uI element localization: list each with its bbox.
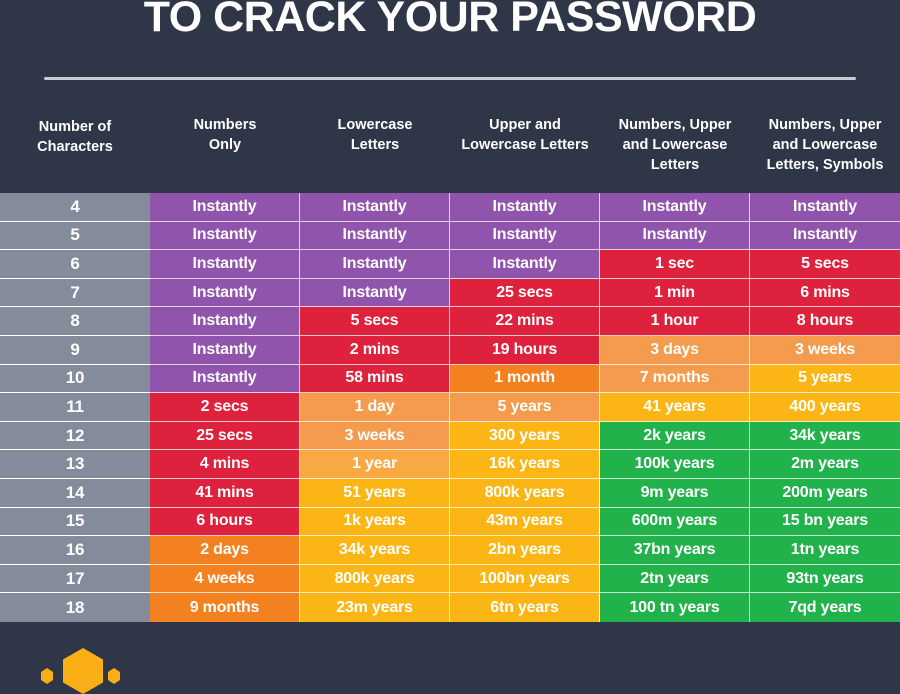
crack-time-cell: 8 hours xyxy=(750,307,900,336)
crack-time-cell: 9 months xyxy=(150,593,300,622)
hive-logo-left-accent-icon xyxy=(41,668,53,684)
table-row: 112 secs1 day5 years41 years400 years xyxy=(0,393,900,422)
table-row: 156 hours1k years43m years600m years15 b… xyxy=(0,508,900,537)
crack-time-cell: 1 min xyxy=(600,279,750,308)
table-row: 134 mins1 year16k years100k years2m year… xyxy=(0,450,900,479)
character-count-cell: 8 xyxy=(0,307,150,336)
crack-time-cell: 19 hours xyxy=(450,336,600,365)
column-header-label: Numbers, Upperand LowercaseLetters xyxy=(619,115,732,175)
crack-time-cell: Instantly xyxy=(150,307,300,336)
table-column-header-4: Numbers, Upperand LowercaseLetters xyxy=(600,97,750,193)
crack-time-cell: 100bn years xyxy=(450,565,600,594)
table-body: 4InstantlyInstantlyInstantlyInstantlyIns… xyxy=(0,193,900,622)
crack-time-cell: 5 years xyxy=(450,393,600,422)
crack-time-cell: 1 year xyxy=(300,450,450,479)
crack-time-cell: 400 years xyxy=(750,393,900,422)
crack-time-cell: 9m years xyxy=(600,479,750,508)
crack-time-cell: Instantly xyxy=(450,222,600,251)
crack-time-cell: Instantly xyxy=(300,279,450,308)
character-count-cell: 4 xyxy=(0,193,150,222)
crack-time-cell: 1tn years xyxy=(750,536,900,565)
crack-time-cell: 2 secs xyxy=(150,393,300,422)
crack-time-cell: 22 mins xyxy=(450,307,600,336)
character-count-cell: 5 xyxy=(0,222,150,251)
crack-time-cell: 37bn years xyxy=(600,536,750,565)
crack-time-cell: 4 mins xyxy=(150,450,300,479)
table-row: 1225 secs3 weeks300 years2k years34k yea… xyxy=(0,422,900,451)
crack-time-cell: 1k years xyxy=(300,508,450,537)
crack-time-cell: Instantly xyxy=(450,250,600,279)
crack-time-cell: 34k years xyxy=(300,536,450,565)
table-row: 6InstantlyInstantlyInstantly1 sec5 secs xyxy=(0,250,900,279)
title-divider xyxy=(44,77,856,80)
crack-time-cell: 25 secs xyxy=(150,422,300,451)
character-count-cell: 15 xyxy=(0,508,150,537)
crack-time-cell: Instantly xyxy=(150,222,300,251)
character-count-cell: 14 xyxy=(0,479,150,508)
table-row: 5InstantlyInstantlyInstantlyInstantlyIns… xyxy=(0,222,900,251)
crack-time-cell: 200m years xyxy=(750,479,900,508)
column-header-label: Numbers, Upperand LowercaseLetters, Symb… xyxy=(767,115,884,175)
crack-time-cell: 2k years xyxy=(600,422,750,451)
crack-time-cell: Instantly xyxy=(750,222,900,251)
crack-time-cell: 5 years xyxy=(750,365,900,394)
crack-time-cell: 3 weeks xyxy=(750,336,900,365)
table-row: 174 weeks800k years100bn years2tn years9… xyxy=(0,565,900,594)
crack-time-cell: 2m years xyxy=(750,450,900,479)
crack-time-cell: Instantly xyxy=(150,193,300,222)
table-column-header-3: Upper andLowercase Letters xyxy=(450,97,600,193)
crack-time-cell: 7 months xyxy=(600,365,750,394)
table-row: 4InstantlyInstantlyInstantlyInstantlyIns… xyxy=(0,193,900,222)
crack-time-cell: 100k years xyxy=(600,450,750,479)
character-count-cell: 6 xyxy=(0,250,150,279)
crack-time-cell: 5 secs xyxy=(300,307,450,336)
crack-time-cell: Instantly xyxy=(450,193,600,222)
character-count-cell: 16 xyxy=(0,536,150,565)
crack-time-cell: 1 hour xyxy=(600,307,750,336)
crack-time-cell: 6 mins xyxy=(750,279,900,308)
crack-time-cell: 5 secs xyxy=(750,250,900,279)
crack-time-cell: 800k years xyxy=(300,565,450,594)
table-row: 10Instantly58 mins1 month7 months5 years xyxy=(0,365,900,394)
character-count-cell: 18 xyxy=(0,593,150,622)
crack-time-cell: 1 day xyxy=(300,393,450,422)
table-column-header-0: Number ofCharacters xyxy=(0,97,150,193)
table-column-header-1: NumbersOnly xyxy=(150,97,300,193)
crack-time-cell: 6tn years xyxy=(450,593,600,622)
column-header-label: NumbersOnly xyxy=(194,115,257,155)
crack-time-cell: Instantly xyxy=(300,222,450,251)
crack-time-cell: 41 mins xyxy=(150,479,300,508)
crack-time-cell: Instantly xyxy=(150,365,300,394)
table-row: 1441 mins51 years800k years9m years200m … xyxy=(0,479,900,508)
character-count-cell: 9 xyxy=(0,336,150,365)
crack-time-cell: 2tn years xyxy=(600,565,750,594)
crack-time-cell: 23m years xyxy=(300,593,450,622)
crack-time-cell: 3 days xyxy=(600,336,750,365)
crack-time-cell: 2bn years xyxy=(450,536,600,565)
table-row: 8Instantly5 secs22 mins1 hour8 hours xyxy=(0,307,900,336)
table-header-row: Number ofCharactersNumbersOnlyLowercaseL… xyxy=(0,97,900,193)
crack-time-cell: 43m years xyxy=(450,508,600,537)
crack-time-cell: Instantly xyxy=(150,250,300,279)
crack-time-cell: 58 mins xyxy=(300,365,450,394)
password-crack-time-table: Number ofCharactersNumbersOnlyLowercaseL… xyxy=(0,97,900,622)
crack-time-cell: 4 weeks xyxy=(150,565,300,594)
crack-time-cell: 6 hours xyxy=(150,508,300,537)
crack-time-cell: 100 tn years xyxy=(600,593,750,622)
character-count-cell: 7 xyxy=(0,279,150,308)
table-row: 7InstantlyInstantly25 secs1 min6 mins xyxy=(0,279,900,308)
crack-time-cell: 2 days xyxy=(150,536,300,565)
infographic-page: TO CRACK YOUR PASSWORD HIVE SYSTEMS Numb… xyxy=(0,0,900,675)
crack-time-cell: 16k years xyxy=(450,450,600,479)
crack-time-cell: 34k years xyxy=(750,422,900,451)
table-row: 162 days34k years2bn years37bn years1tn … xyxy=(0,536,900,565)
crack-time-cell: Instantly xyxy=(300,250,450,279)
crack-time-cell: 15 bn years xyxy=(750,508,900,537)
hive-logo-right-accent-icon xyxy=(108,668,120,684)
character-count-cell: 10 xyxy=(0,365,150,394)
character-count-cell: 17 xyxy=(0,565,150,594)
crack-time-cell: 25 secs xyxy=(450,279,600,308)
hive-systems-logo-icon xyxy=(63,648,103,694)
crack-time-cell: 2 mins xyxy=(300,336,450,365)
crack-time-cell: 51 years xyxy=(300,479,450,508)
crack-time-cell: 7qd years xyxy=(750,593,900,622)
crack-time-cell: Instantly xyxy=(600,193,750,222)
crack-time-cell: 41 years xyxy=(600,393,750,422)
table-column-header-5: Numbers, Upperand LowercaseLetters, Symb… xyxy=(750,97,900,193)
column-header-label: Upper andLowercase Letters xyxy=(461,115,588,155)
crack-time-cell: Instantly xyxy=(600,222,750,251)
crack-time-cell: Instantly xyxy=(150,336,300,365)
crack-time-cell: 3 weeks xyxy=(300,422,450,451)
character-count-cell: 13 xyxy=(0,450,150,479)
character-count-cell: 12 xyxy=(0,422,150,451)
table-column-header-2: LowercaseLetters xyxy=(300,97,450,193)
table-row: 189 months23m years6tn years100 tn years… xyxy=(0,593,900,622)
table-row: 9Instantly2 mins19 hours3 days3 weeks xyxy=(0,336,900,365)
crack-time-cell: 800k years xyxy=(450,479,600,508)
crack-time-cell: 1 month xyxy=(450,365,600,394)
crack-time-cell: 93tn years xyxy=(750,565,900,594)
column-header-label: LowercaseLetters xyxy=(338,115,413,155)
character-count-cell: 11 xyxy=(0,393,150,422)
column-header-label: Number ofCharacters xyxy=(37,117,113,157)
crack-time-cell: 300 years xyxy=(450,422,600,451)
crack-time-cell: Instantly xyxy=(300,193,450,222)
page-title: TO CRACK YOUR PASSWORD xyxy=(0,0,900,46)
crack-time-cell: Instantly xyxy=(750,193,900,222)
crack-time-cell: Instantly xyxy=(150,279,300,308)
crack-time-cell: 1 sec xyxy=(600,250,750,279)
crack-time-cell: 600m years xyxy=(600,508,750,537)
